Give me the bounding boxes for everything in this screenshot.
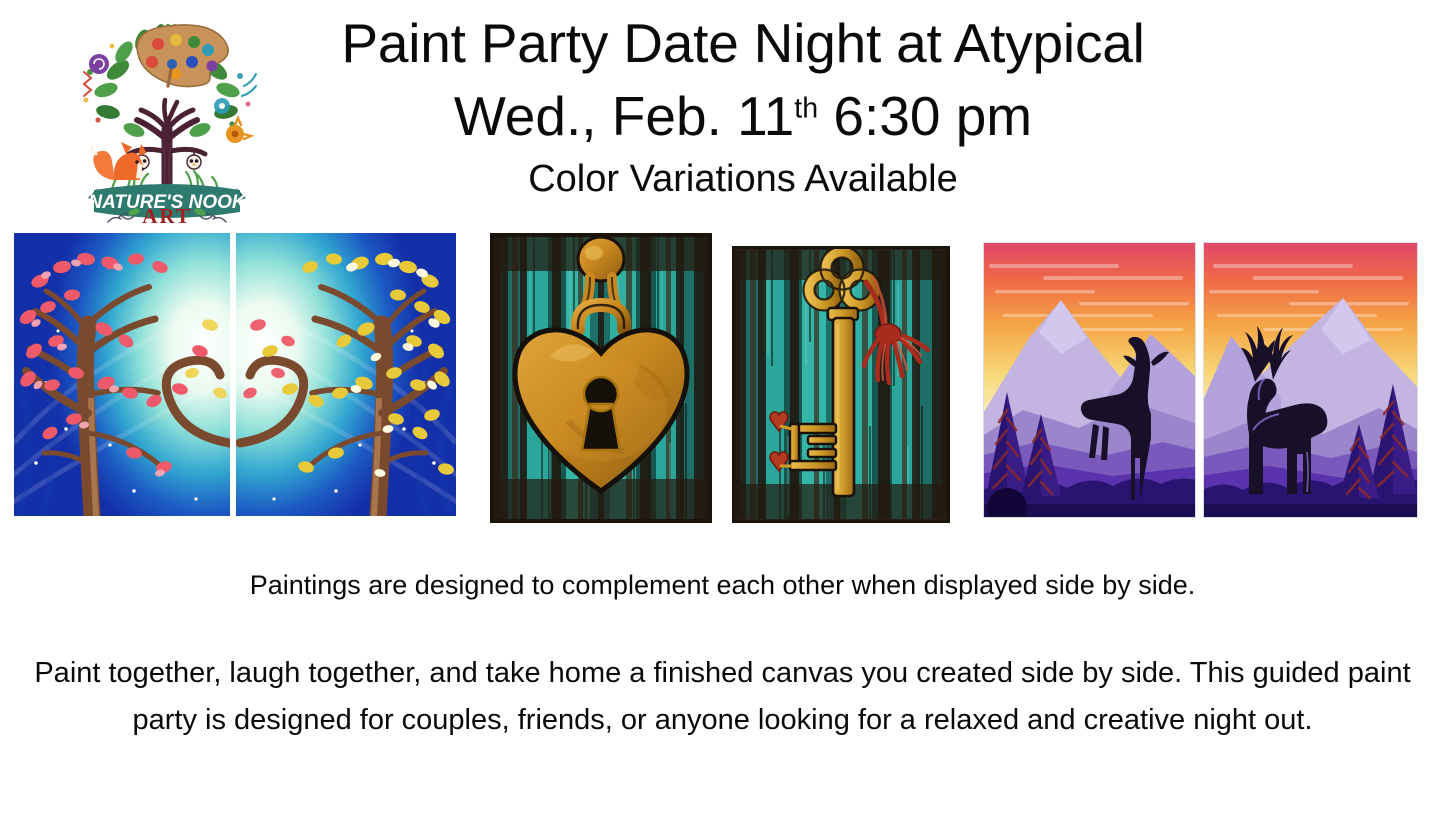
artwork-gallery [0,231,1445,521]
logo-subtext: ART [142,204,192,224]
page-title: Paint Party Date Night at Atypical [278,8,1208,79]
event-datetime: Wed., Feb. 11th 6:30 pm [278,79,1208,153]
artwork-skeleton-key [732,246,950,523]
natures-nook-art-logo: NATURE'S NOOK ART [72,12,262,224]
flyer-page: NATURE'S NOOK ART Paint Party Date Night… [0,0,1445,813]
event-date-prefix: Wed., Feb. 11 [454,85,794,147]
gallery-caption: Paintings are designed to complement eac… [0,566,1445,604]
date-ordinal-suffix: th [794,92,818,124]
artwork-sunset-doe [983,242,1196,518]
artwork-cherry-blossom-tree-left [14,233,230,516]
artwork-cherry-blossom-tree-right [236,233,456,516]
event-time: 6:30 pm [818,85,1032,147]
page-subtitle: Color Variations Available [278,155,1208,203]
fox-icon [92,142,147,180]
artwork-heart-padlock [490,233,712,523]
heading-block: Paint Party Date Night at Atypical Wed.,… [278,8,1208,203]
event-description: Paint together, laugh together, and take… [22,650,1423,744]
artwork-sunset-stag [1203,242,1418,518]
